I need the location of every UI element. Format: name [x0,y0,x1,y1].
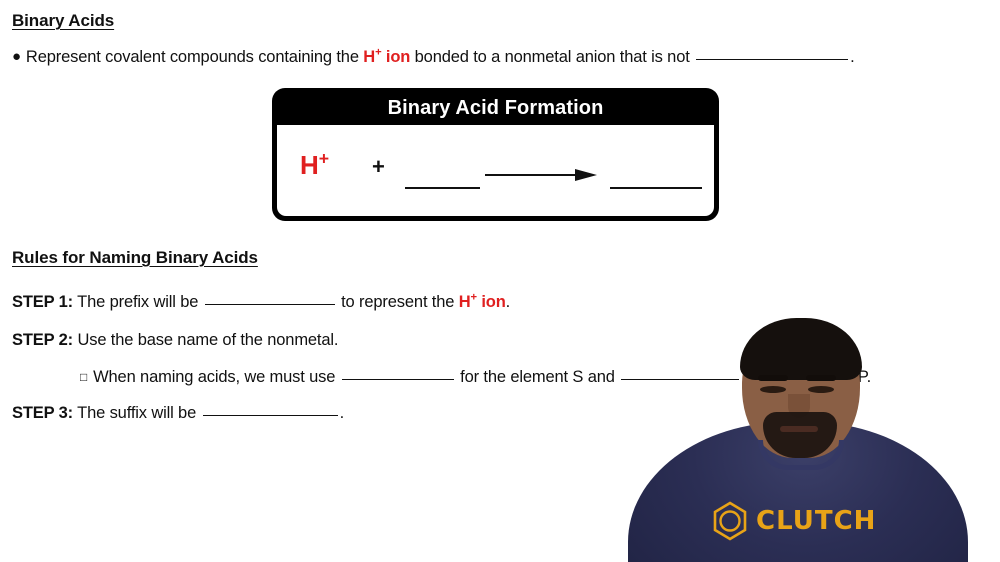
step-1-period: . [506,293,510,311]
step-3-text-before: The suffix will be [73,404,201,422]
step-2-line: STEP 2: Use the base name of the nonmeta… [12,331,338,350]
step-1-h-symbol: H [459,293,471,311]
presenter-video-overlay: CLUTCH [620,300,1000,562]
fill-in-blank [696,59,848,60]
sub-bullet-text-mid: for the element S and [456,368,619,386]
equation-charge: + [319,148,329,168]
hexagon-circle-icon [712,501,748,541]
ion-word: ion [381,48,410,66]
equation-blank-product [610,187,702,189]
reaction-arrow-icon [485,168,597,182]
step-1-ion-word: ion [477,293,506,311]
step-2-text: Use the base name of the nonmetal. [73,331,338,349]
sub-bullet-blank-1 [342,379,454,380]
presenter-mouth [780,426,818,432]
step-3-line: STEP 3: The suffix will be . [12,404,344,423]
presenter-eyebrow-right [806,375,836,381]
step-1-h-plus-ion: H+ ion [459,293,506,311]
h-plus-ion-term: H+ ion [363,48,410,66]
formation-equation: H+ + [277,125,714,216]
clutch-logo: CLUTCH [712,500,922,542]
presenter-hair [740,318,862,380]
equation-h-plus: H+ [300,150,329,181]
bullet-text-after: bonded to a nonmetal anion that is not [410,48,694,66]
clutch-wordmark: CLUTCH [756,506,876,536]
hollow-square-icon: □ [80,370,87,384]
step-2-label: STEP 2: [12,331,73,349]
step-1-text-before: The prefix will be [73,293,203,311]
bullet-period: . [850,48,854,66]
equation-blank-reactant [405,187,480,189]
h-symbol: H [363,48,375,66]
step-3-label: STEP 3: [12,404,73,422]
bullet-dot-icon: ● [12,48,21,65]
presenter-eyebrow-left [758,375,788,381]
binary-acid-formation-box: Binary Acid Formation H+ + [272,88,719,221]
equation-h-symbol: H [300,150,319,180]
bullet-line-binary-acids: ●Represent covalent compounds containing… [12,48,855,67]
formation-box-body: H+ + [277,125,714,216]
step-3-period: . [340,404,344,422]
slide-canvas: Binary Acids ●Represent covalent compoun… [0,0,1000,562]
step-1-blank [205,304,335,305]
step-3-blank [203,415,338,416]
presenter-eye-left [760,386,786,393]
equation-plus-operator: + [372,154,385,180]
step-1-label: STEP 1: [12,293,73,311]
step-1-line: STEP 1: The prefix will be to represent … [12,293,510,312]
page-title: Binary Acids [12,11,114,31]
formation-box-header: Binary Acid Formation [277,93,714,125]
sub-bullet-text-before: When naming acids, we must use [93,368,340,386]
presenter-eye-right [808,386,834,393]
bullet-text-before: Represent covalent compounds containing … [26,48,363,66]
step-1-text-mid: to represent the [337,293,459,311]
rules-heading: Rules for Naming Binary Acids [12,248,258,268]
